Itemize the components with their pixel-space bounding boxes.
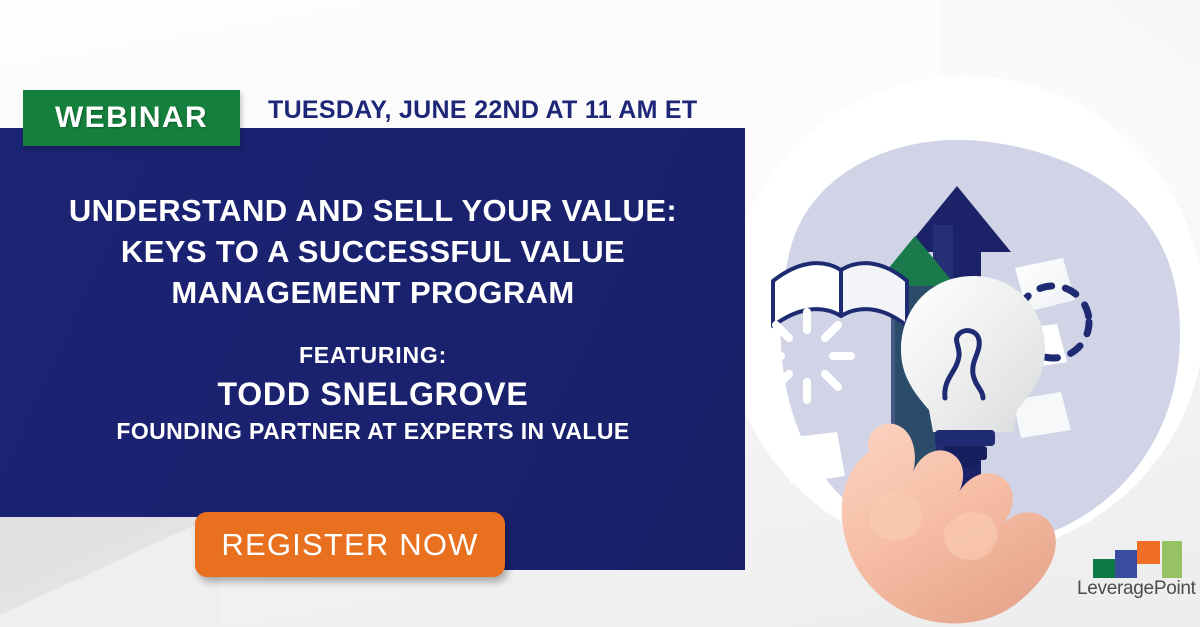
logo-block-1	[1093, 559, 1115, 578]
logo-blocks	[1077, 540, 1189, 578]
webinar-badge: WEBINAR	[23, 90, 240, 146]
title-line-1: UNDERSTAND AND SELL YOUR VALUE:	[30, 190, 716, 231]
featuring-block: FEATURING: TODD SNELGROVE FOUNDING PARTN…	[30, 340, 716, 446]
title-line-3: MANAGEMENT PROGRAM	[30, 272, 716, 313]
page-title: UNDERSTAND AND SELL YOUR VALUE: KEYS TO …	[30, 190, 716, 313]
register-now-button[interactable]: REGISTER NOW	[195, 512, 505, 577]
logo-block-3	[1137, 541, 1160, 564]
starburst-accent	[763, 312, 851, 400]
featuring-label: FEATURING:	[30, 340, 716, 370]
speaker-role: FOUNDING PARTNER AT EXPERTS IN VALUE	[30, 416, 716, 446]
logo-block-2	[1115, 550, 1137, 578]
hand-holding-lightbulb-illustration	[745, 0, 1200, 627]
speaker-name: TODD SNELGROVE	[30, 372, 716, 416]
open-book-icon	[773, 263, 907, 326]
leveragepoint-logo[interactable]: LeveragePoint	[1077, 540, 1189, 602]
webinar-badge-label: WEBINAR	[55, 101, 208, 135]
hand-illustration	[842, 424, 1056, 624]
logo-wordmark: LeveragePoint	[1077, 578, 1189, 600]
webinar-date-time: TUESDAY, JUNE 22ND AT 11 AM ET	[268, 96, 697, 125]
logo-block-4	[1162, 541, 1182, 578]
title-line-2: KEYS TO A SUCCESSFUL VALUE	[30, 231, 716, 272]
background-corner-shade	[0, 517, 220, 627]
promo-canvas: WEBINAR TUESDAY, JUNE 22ND AT 11 AM ET U…	[0, 0, 1200, 627]
